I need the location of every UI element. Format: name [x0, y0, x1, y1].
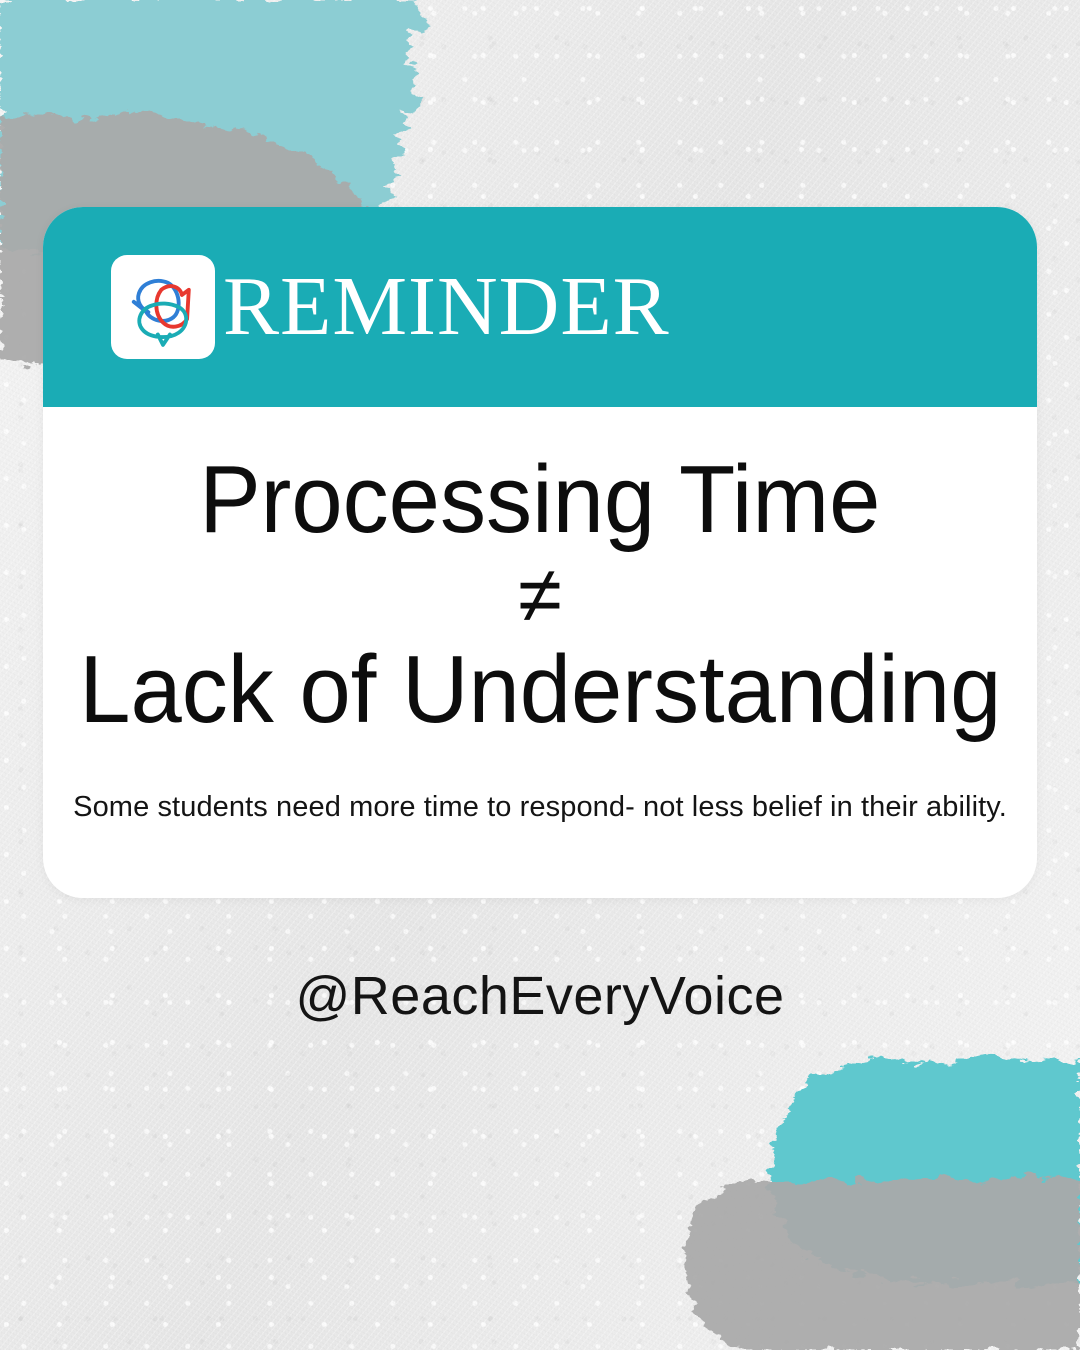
- logo-badge: [111, 255, 215, 359]
- card-body: Processing Time ≠ Lack of Understanding …: [43, 407, 1037, 898]
- headline-line-1: Processing Time: [199, 451, 880, 549]
- subtitle-text: Some students need more time to respond-…: [73, 791, 1007, 824]
- page-title: REMINDER: [223, 265, 670, 349]
- not-equal-symbol: ≠: [518, 551, 562, 639]
- social-handle: @ReachEveryVoice: [0, 965, 1080, 1027]
- card-header: REMINDER: [43, 207, 1037, 407]
- reach-every-voice-logo-icon: [120, 264, 206, 350]
- reminder-card: REMINDER Processing Time ≠ Lack of Under…: [43, 207, 1037, 898]
- headline-line-2: Lack of Understanding: [79, 641, 1001, 739]
